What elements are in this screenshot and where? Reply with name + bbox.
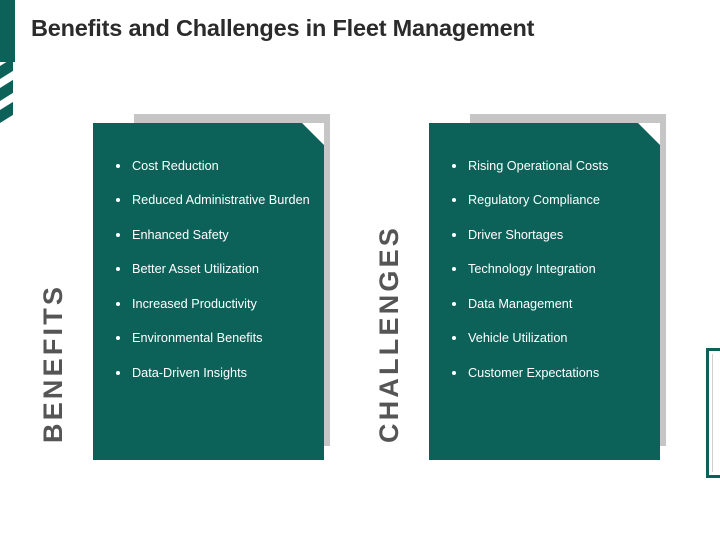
stripe-block <box>0 0 15 62</box>
bullet-dot-icon <box>452 267 456 271</box>
list-item: Data-Driven Insights <box>113 366 310 382</box>
bullet-dot-icon <box>452 198 456 202</box>
side-label-benefits: BENEFITS <box>38 284 69 443</box>
list-item-label: Data-Driven Insights <box>132 366 247 380</box>
list-item: Environmental Benefits <box>113 331 310 347</box>
bullet-dot-icon <box>452 302 456 306</box>
list-item-label: Regulatory Compliance <box>468 193 600 207</box>
bullet-list-challenges: Rising Operational Costs Regulatory Comp… <box>449 159 646 382</box>
bullet-dot-icon <box>116 302 120 306</box>
folded-corner-icon <box>302 123 324 145</box>
list-item-label: Cost Reduction <box>132 159 219 173</box>
bullet-dot-icon <box>116 198 120 202</box>
list-item: Technology Integration <box>449 262 646 278</box>
list-item: Enhanced Safety <box>113 228 310 244</box>
folded-corner-icon <box>638 123 660 145</box>
card-benefits: Cost Reduction Reduced Administrative Bu… <box>93 123 324 460</box>
list-item: Increased Productivity <box>113 297 310 313</box>
list-item-label: Data Management <box>468 297 572 311</box>
list-item: Reduced Administrative Burden <box>113 193 310 209</box>
bullet-dot-icon <box>452 371 456 375</box>
stripe-slash <box>0 102 13 123</box>
list-item-label: Enhanced Safety <box>132 228 229 242</box>
list-item: Data Management <box>449 297 646 313</box>
list-item-label: Technology Integration <box>468 262 596 276</box>
decorative-stripes-left <box>0 0 24 150</box>
bullet-dot-icon <box>116 336 120 340</box>
list-item-label: Better Asset Utilization <box>132 262 259 276</box>
list-item-label: Increased Productivity <box>132 297 257 311</box>
list-item-label: Environmental Benefits <box>132 331 262 345</box>
slide-canvas: Benefits and Challenges in Fleet Managem… <box>0 0 720 540</box>
bullet-dot-icon <box>452 233 456 237</box>
bullet-dot-icon <box>116 164 120 168</box>
side-label-challenges: CHALLENGES <box>374 225 405 443</box>
bullet-dot-icon <box>116 371 120 375</box>
list-item: Regulatory Compliance <box>449 193 646 209</box>
list-item-label: Customer Expectations <box>468 366 599 380</box>
list-item-label: Reduced Administrative Burden <box>132 193 310 207</box>
bullet-dot-icon <box>116 233 120 237</box>
list-item: Customer Expectations <box>449 366 646 382</box>
bullet-dot-icon <box>452 164 456 168</box>
decorative-frame-right-inner <box>712 354 720 472</box>
list-item: Cost Reduction <box>113 159 310 175</box>
list-item-label: Driver Shortages <box>468 228 563 242</box>
list-item-label: Rising Operational Costs <box>468 159 608 173</box>
list-item: Better Asset Utilization <box>113 262 310 278</box>
list-item: Vehicle Utilization <box>449 331 646 347</box>
page-title: Benefits and Challenges in Fleet Managem… <box>31 14 691 42</box>
card-challenges: Rising Operational Costs Regulatory Comp… <box>429 123 660 460</box>
bullet-list-benefits: Cost Reduction Reduced Administrative Bu… <box>113 159 310 382</box>
bullet-dot-icon <box>452 336 456 340</box>
list-item: Rising Operational Costs <box>449 159 646 175</box>
list-item-label: Vehicle Utilization <box>468 331 567 345</box>
stripe-slash <box>0 80 13 101</box>
bullet-dot-icon <box>116 267 120 271</box>
list-item: Driver Shortages <box>449 228 646 244</box>
